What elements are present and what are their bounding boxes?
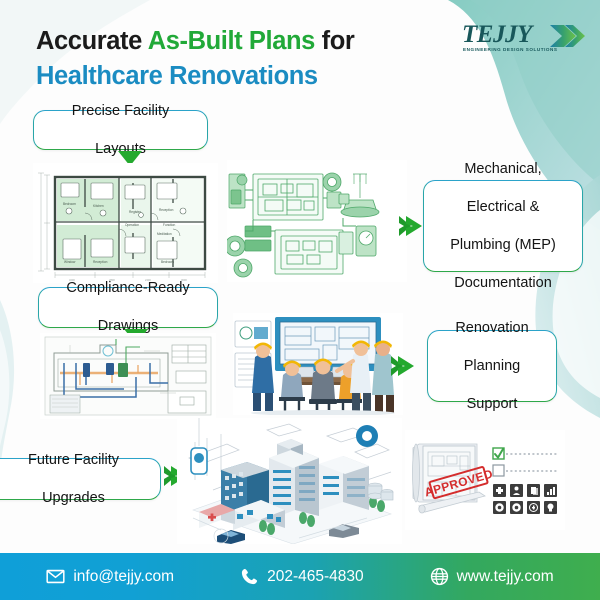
hospital-complex-illustration — [177, 418, 402, 544]
floor-plan-illustration: Bedroom Kitchen Register Reception Opera… — [33, 163, 218, 283]
svg-text:Bedroom: Bedroom — [63, 202, 76, 206]
callout-line: Upgrades — [22, 489, 125, 508]
callout-line: Mechanical, — [444, 160, 562, 179]
callout-precise-facility-layouts[interactable]: Precise Facility Layouts — [33, 110, 208, 150]
svg-text:Bedroom: Bedroom — [161, 260, 174, 264]
team-meeting-illustration — [233, 313, 403, 415]
title-part-asbuilt: As-Built Plans — [148, 27, 315, 55]
svg-text:Meditation: Meditation — [157, 232, 172, 236]
phone-icon — [240, 567, 259, 586]
callout-line: Documentation — [444, 274, 562, 293]
svg-text:Kitchen: Kitchen — [93, 204, 104, 208]
svg-text:Reception: Reception — [93, 260, 108, 264]
arrow-right-icon — [398, 215, 424, 237]
page-title: Accurate As-Built Plans for Healthcare R… — [36, 24, 456, 94]
infographic-page: Accurate As-Built Plans for Healthcare R… — [0, 0, 600, 600]
envelope-icon — [46, 567, 65, 586]
title-line-2: Healthcare Renovations — [36, 59, 456, 94]
callout-mep-documentation[interactable]: Mechanical, Electrical & Plumbing (MEP) … — [423, 180, 583, 272]
callout-line: Planning — [449, 357, 534, 376]
footer-website[interactable]: www.tejjy.com — [430, 567, 554, 586]
svg-text:Reception: Reception — [159, 208, 174, 212]
title-part-accurate: Accurate — [36, 27, 148, 55]
svg-text:Operation: Operation — [125, 223, 139, 227]
globe-icon — [430, 567, 449, 586]
svg-text:Window: Window — [64, 260, 76, 264]
callout-compliance-ready-drawings[interactable]: Compliance-Ready Drawings — [38, 287, 218, 328]
page-header: Accurate As-Built Plans for Healthcare R… — [0, 0, 600, 108]
tejjy-logo[interactable]: TEJJY ENGINEERING DESIGN SOLUTIONS — [462, 22, 586, 62]
callout-line: Compliance-Ready — [60, 279, 195, 298]
svg-text:Function: Function — [163, 223, 175, 227]
contact-footer: info@tejjy.com 202-465-4830 www.tejjy.co… — [0, 553, 600, 600]
callout-line: Electrical & — [444, 198, 562, 217]
logo-tagline: ENGINEERING DESIGN SOLUTIONS — [463, 47, 558, 52]
footer-phone-text: 202-465-4830 — [267, 568, 364, 586]
arrow-right-icon — [390, 355, 416, 377]
footer-phone[interactable]: 202-465-4830 — [240, 567, 364, 586]
title-part-for: for — [315, 27, 354, 55]
svg-text:Register: Register — [129, 210, 142, 214]
callout-line: Precise Facility — [66, 102, 176, 121]
footer-email[interactable]: info@tejjy.com — [46, 567, 174, 586]
chevron-right-icon — [548, 23, 586, 49]
callout-renovation-planning-support[interactable]: Renovation Planning Support — [427, 330, 557, 402]
callout-line: Support — [449, 395, 534, 414]
footer-email-text: info@tejjy.com — [73, 568, 174, 586]
callout-line: Renovation — [449, 319, 534, 338]
footer-website-text: www.tejjy.com — [457, 568, 554, 586]
callout-future-facility-upgrades[interactable]: Future Facility Upgrades — [0, 458, 161, 500]
approved-blueprint-illustration: APPROVED — [405, 430, 565, 530]
title-line-1: Accurate As-Built Plans for — [36, 24, 456, 59]
callout-line: Future Facility — [22, 451, 125, 470]
mep-schematic-illustration — [227, 160, 407, 282]
compliance-drawing-illustration — [40, 333, 216, 419]
callout-line: Plumbing (MEP) — [444, 236, 562, 255]
logo-wordmark: TEJJY — [462, 22, 532, 48]
